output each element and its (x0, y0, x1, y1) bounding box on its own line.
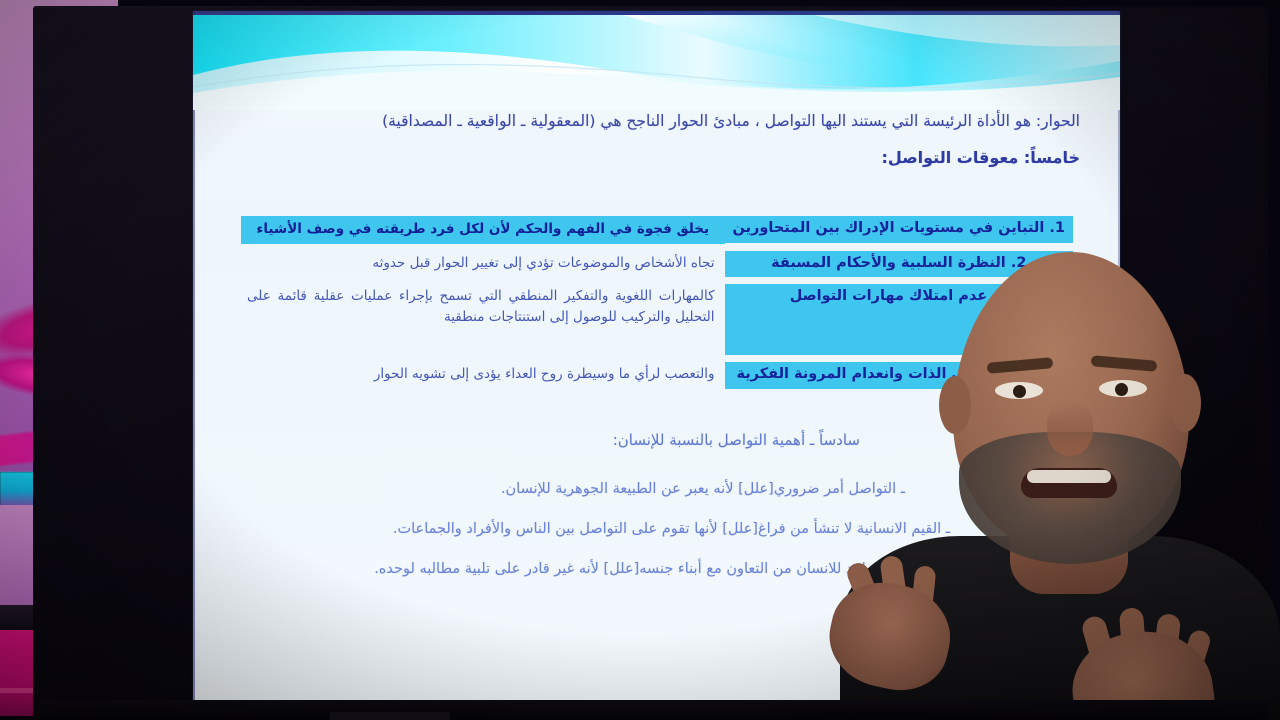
slide-header-line-2: خامساً: معوقات التواصل: (882, 148, 1080, 167)
presenter-eye-right (1099, 380, 1147, 397)
slide-header-line-1: الحوار: هو الأداة الرئيسة التي يستند الي… (382, 112, 1080, 130)
presenter-nose (1047, 402, 1093, 456)
table-row-detail: والتعصب لرأي ما وسيطرة روح العداء يؤدى إ… (241, 362, 725, 387)
presenter-eye-left (995, 382, 1043, 399)
presenter (835, 236, 1280, 720)
display-stand (330, 712, 450, 720)
display-bottom-bezel (33, 700, 1268, 720)
table-row-detail: يخلق فجوة في الفهم والحكم لأن لكل فرد طر… (241, 216, 725, 244)
slide-section-title: سادساً ـ أهمية التواصل بالنسبة للإنسان: (613, 431, 860, 449)
presenter-mouth (1021, 468, 1117, 498)
table-row-detail: كالمهارات اللغوية والتفكير المنطقي التي … (241, 284, 725, 330)
presenter-ear-left (939, 376, 971, 434)
table-row-detail: تجاه الأشخاص والموضوعات تؤدي إلى تغيير ا… (241, 251, 725, 276)
presenter-teeth (1027, 470, 1111, 483)
presenter-ear-right (1169, 374, 1201, 432)
video-frame: الحوار: هو الأداة الرئيسة التي يستند الي… (0, 0, 1280, 720)
